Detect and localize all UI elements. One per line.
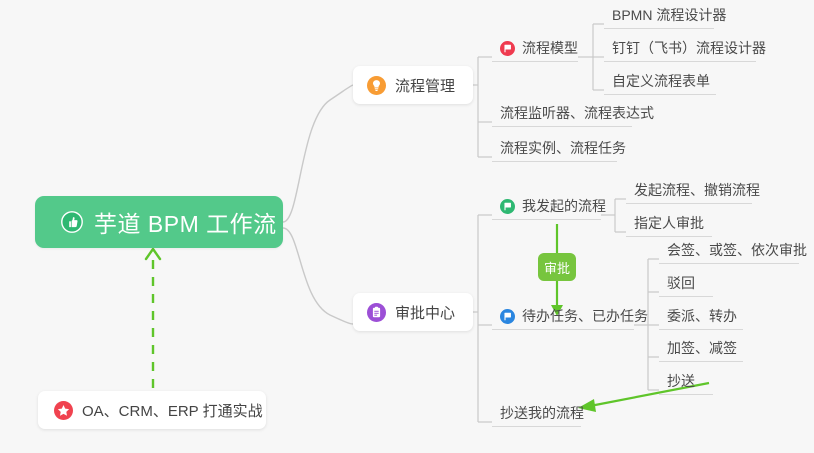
node-label: 加签、减签 — [667, 340, 737, 357]
node-delegate-transfer[interactable]: 委派、转办 — [659, 308, 743, 330]
node-cc[interactable]: 抄送 — [659, 373, 713, 395]
node-label: 指定人审批 — [634, 215, 704, 232]
root-node[interactable]: 芋道 BPM 工作流 — [35, 196, 283, 248]
callout-integration[interactable]: OA、CRM、ERP 打通实战 — [38, 391, 266, 429]
node-add-remove-sign[interactable]: 加签、减签 — [659, 340, 743, 362]
annotation-approval-label: 审批 — [544, 258, 570, 277]
wire-root-to-process-management — [283, 85, 353, 222]
node-label: 抄送我的流程 — [500, 405, 584, 422]
node-cc-my-flows[interactable]: 抄送我的流程 — [492, 405, 581, 427]
branch-process-management[interactable]: 流程管理 — [353, 66, 473, 104]
annotation-integration-arrowhead — [146, 249, 160, 259]
node-countersign[interactable]: 会签、或签、依次审批 — [659, 242, 799, 264]
lightbulb-icon — [367, 76, 386, 95]
node-bpmn-designer[interactable]: BPMN 流程设计器 — [604, 7, 714, 29]
node-label: 我发起的流程 — [522, 198, 606, 215]
root-label: 芋道 BPM 工作流 — [94, 205, 277, 239]
node-assign-approver[interactable]: 指定人审批 — [626, 215, 712, 237]
node-label: 流程实例、流程任务 — [500, 140, 626, 157]
mindmap-canvas: 芋道 BPM 工作流 流程管理 流程模型 流程监听器、流程表达式 流程实例、流程… — [0, 0, 814, 453]
flag-icon — [500, 309, 515, 324]
node-start-cancel-flow[interactable]: 发起流程、撤销流程 — [626, 182, 752, 204]
star-icon — [54, 401, 73, 420]
node-label: 驳回 — [667, 275, 695, 292]
node-label: 发起流程、撤销流程 — [634, 182, 760, 199]
branch-label: 审批中心 — [395, 302, 455, 323]
node-label: 钉钉（飞书）流程设计器 — [612, 40, 766, 57]
flag-icon — [500, 199, 515, 214]
branch-label: 流程管理 — [395, 75, 455, 96]
callout-label: OA、CRM、ERP 打通实战 — [82, 400, 263, 421]
node-process-model[interactable]: 流程模型 — [492, 40, 578, 62]
node-process-listener[interactable]: 流程监听器、流程表达式 — [492, 105, 632, 127]
node-label: 会签、或签、依次审批 — [667, 242, 807, 259]
node-label: 抄送 — [667, 373, 695, 390]
node-label: 流程监听器、流程表达式 — [500, 105, 654, 122]
clipboard-icon — [367, 303, 386, 322]
node-label: BPMN 流程设计器 — [612, 7, 726, 24]
node-label: 自定义流程表单 — [612, 73, 710, 90]
branch-approval-center[interactable]: 审批中心 — [353, 293, 473, 331]
node-todo-tasks[interactable]: 待办任务、已办任务 — [492, 308, 634, 330]
node-process-instance[interactable]: 流程实例、流程任务 — [492, 140, 617, 162]
node-label: 流程模型 — [522, 40, 578, 57]
node-reject[interactable]: 驳回 — [659, 275, 713, 297]
node-dingtalk-designer[interactable]: 钉钉（飞书）流程设计器 — [604, 40, 756, 62]
annotation-approval-tag: 审批 — [538, 253, 576, 281]
node-my-flows[interactable]: 我发起的流程 — [492, 198, 601, 220]
node-label: 待办任务、已办任务 — [522, 308, 648, 325]
thumbs-up-icon — [61, 211, 83, 233]
node-custom-form[interactable]: 自定义流程表单 — [604, 73, 716, 95]
wire-root-to-approval-center — [283, 228, 353, 324]
flag-icon — [500, 41, 515, 56]
node-label: 委派、转办 — [667, 308, 737, 325]
